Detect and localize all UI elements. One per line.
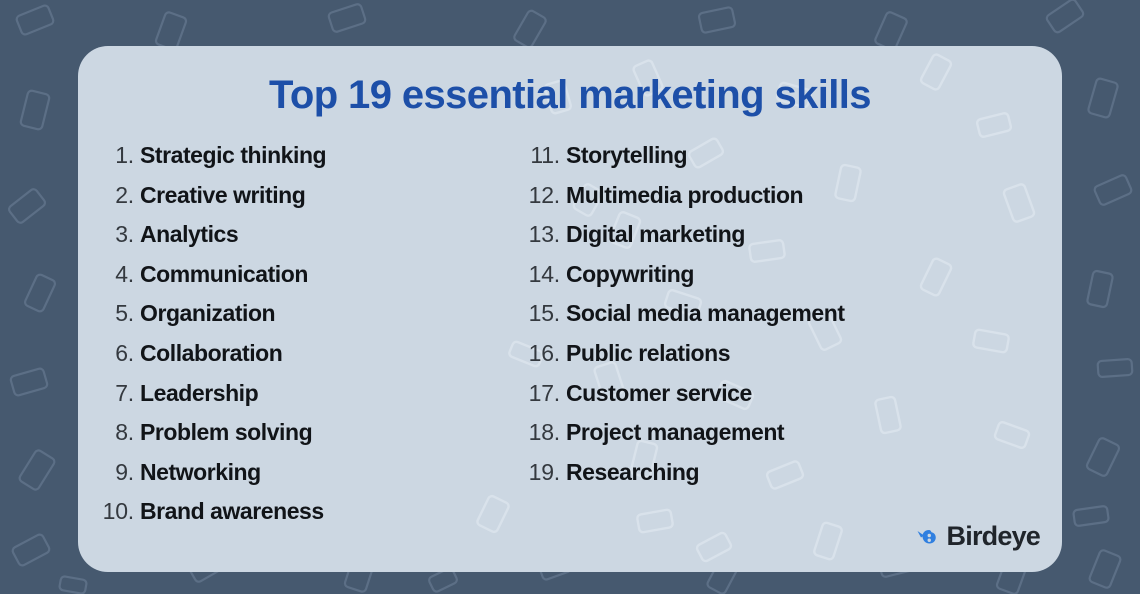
list-item: 19. Researching bbox=[526, 459, 996, 499]
birdeye-wordmark: Birdeye bbox=[947, 523, 1040, 550]
infographic-canvas: Top 19 essential marketing skills 1. Str… bbox=[0, 0, 1140, 594]
birdeye-bird-icon bbox=[914, 525, 938, 549]
list-item-label: Communication bbox=[140, 261, 308, 288]
list-item: 8. Problem solving bbox=[100, 419, 520, 459]
birdeye-logo: Birdeye bbox=[914, 523, 1040, 550]
list-item-label: Leadership bbox=[140, 380, 258, 407]
list-item-number: 11. bbox=[526, 142, 566, 169]
list-item: 3. Analytics bbox=[100, 221, 520, 261]
list-item: 9. Networking bbox=[100, 459, 520, 499]
list-item-label: Multimedia production bbox=[566, 182, 803, 209]
list-item: 2. Creative writing bbox=[100, 182, 520, 222]
list-item-label: Researching bbox=[566, 459, 699, 486]
list-item-number: 13. bbox=[526, 221, 566, 248]
list-item-number: 17. bbox=[526, 380, 566, 407]
list-item: 6. Collaboration bbox=[100, 340, 520, 380]
skills-column-right: 11. Storytelling 12. Multimedia producti… bbox=[526, 142, 996, 498]
list-item: 5. Organization bbox=[100, 300, 520, 340]
list-item-number: 19. bbox=[526, 459, 566, 486]
page-title: Top 19 essential marketing skills bbox=[78, 73, 1062, 118]
list-item-label: Project management bbox=[566, 419, 784, 446]
list-item-label: Networking bbox=[140, 459, 261, 486]
list-item-number: 6. bbox=[100, 340, 140, 367]
skills-column-left: 1. Strategic thinking 2. Creative writin… bbox=[100, 142, 520, 538]
list-item: 14. Copywriting bbox=[526, 261, 996, 301]
list-item-number: 8. bbox=[100, 419, 140, 446]
list-item-label: Strategic thinking bbox=[140, 142, 326, 169]
list-item-label: Creative writing bbox=[140, 182, 305, 209]
content-card: Top 19 essential marketing skills 1. Str… bbox=[78, 46, 1062, 572]
list-item: 1. Strategic thinking bbox=[100, 142, 520, 182]
list-item-label: Analytics bbox=[140, 221, 238, 248]
list-item: 17. Customer service bbox=[526, 380, 996, 420]
list-item-label: Collaboration bbox=[140, 340, 282, 367]
list-item: 13. Digital marketing bbox=[526, 221, 996, 261]
list-item: 4. Communication bbox=[100, 261, 520, 301]
list-item-number: 18. bbox=[526, 419, 566, 446]
skills-list-left: 1. Strategic thinking 2. Creative writin… bbox=[100, 142, 520, 538]
list-item-label: Digital marketing bbox=[566, 221, 745, 248]
list-item: 11. Storytelling bbox=[526, 142, 996, 182]
list-item-number: 16. bbox=[526, 340, 566, 367]
list-item-number: 5. bbox=[100, 300, 140, 327]
list-item-label: Brand awareness bbox=[140, 498, 324, 525]
list-item-label: Copywriting bbox=[566, 261, 694, 288]
list-item: 15. Social media management bbox=[526, 300, 996, 340]
list-item-label: Social media management bbox=[566, 300, 845, 327]
list-item-number: 12. bbox=[526, 182, 566, 209]
list-item: 18. Project management bbox=[526, 419, 996, 459]
list-item-number: 9. bbox=[100, 459, 140, 486]
list-item-number: 3. bbox=[100, 221, 140, 248]
list-item-number: 15. bbox=[526, 300, 566, 327]
list-item-label: Public relations bbox=[566, 340, 730, 367]
list-item-number: 14. bbox=[526, 261, 566, 288]
skills-list-right: 11. Storytelling 12. Multimedia producti… bbox=[526, 142, 996, 498]
list-item: 16. Public relations bbox=[526, 340, 996, 380]
list-item: 7. Leadership bbox=[100, 380, 520, 420]
list-item-number: 10. bbox=[100, 498, 140, 525]
list-item-number: 2. bbox=[100, 182, 140, 209]
list-item: 10. Brand awareness bbox=[100, 498, 520, 538]
list-item-number: 7. bbox=[100, 380, 140, 407]
list-item: 12. Multimedia production bbox=[526, 182, 996, 222]
list-item-label: Storytelling bbox=[566, 142, 687, 169]
list-item-label: Problem solving bbox=[140, 419, 312, 446]
list-item-label: Organization bbox=[140, 300, 275, 327]
list-item-label: Customer service bbox=[566, 380, 752, 407]
list-item-number: 4. bbox=[100, 261, 140, 288]
list-item-number: 1. bbox=[100, 142, 140, 169]
